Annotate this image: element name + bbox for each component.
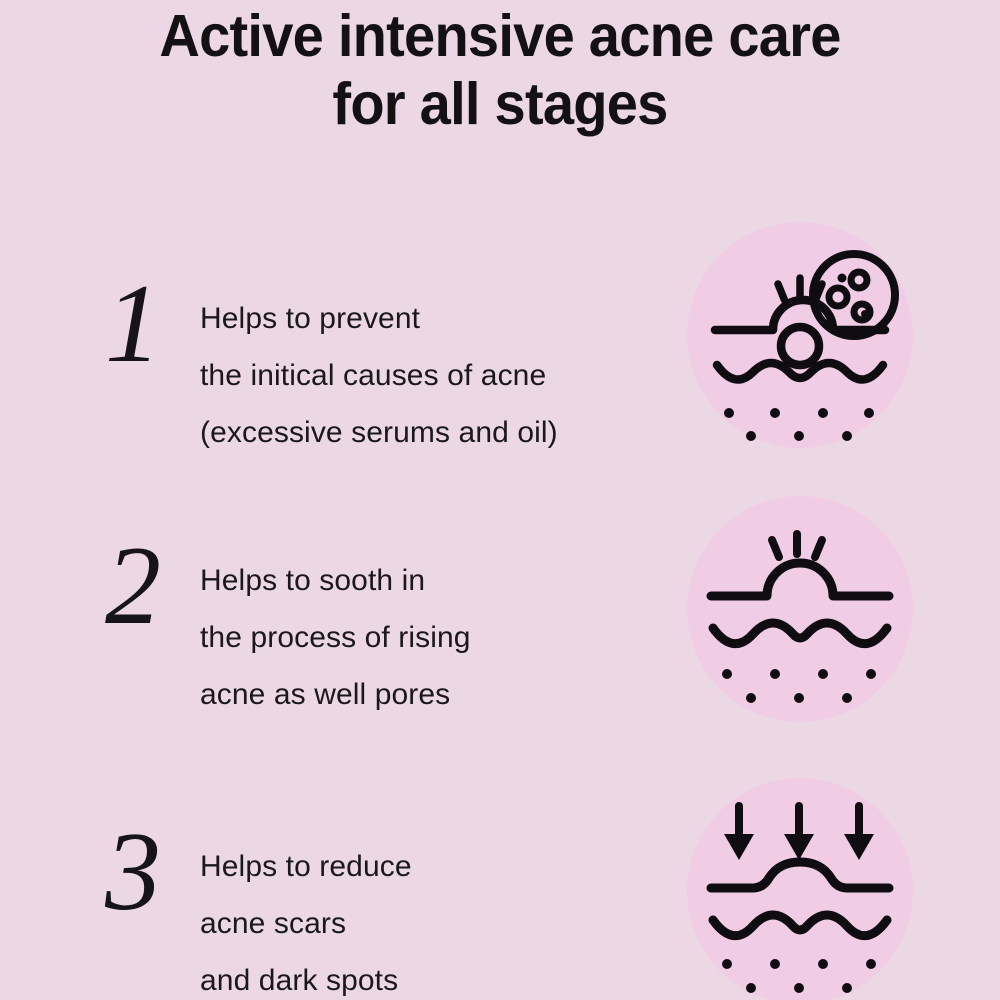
benefit-3-line-1: Helps to reduce <box>200 838 670 895</box>
benefit-2-line-3: acne as well pores <box>200 666 670 723</box>
benefit-3-line-2: acne scars <box>200 895 670 952</box>
benefit-row-2: 2 Helps to sooth in the process of risin… <box>0 482 1000 722</box>
skin-rising-pimple-icon <box>687 496 913 722</box>
benefit-row-3: 3 Helps to reduce acne scars and dark sp… <box>0 768 1000 1000</box>
benefit-text-2: Helps to sooth in the process of rising … <box>200 552 670 723</box>
benefit-row-1: 1 Helps to prevent the initical causes o… <box>0 220 1000 460</box>
benefit-number-1: 1 <box>88 268 178 380</box>
skin-scar-down-arrows-icon <box>687 778 913 1000</box>
pore-dots <box>724 408 874 441</box>
infographic-poster: Active intensive acne care for all stage… <box>0 0 1000 1000</box>
benefit-text-3: Helps to reduce acne scars and dark spot… <box>200 838 670 1000</box>
benefit-number-2: 2 <box>88 530 178 642</box>
benefit-2-line-2: the process of rising <box>200 609 670 666</box>
benefit-1-line-2: the initical causes of acne <box>200 347 670 404</box>
benefit-1-line-3: (excessive serums and oil) <box>200 404 670 461</box>
benefit-number-3: 3 <box>88 816 178 928</box>
title-line-2: for all stages <box>25 70 975 138</box>
benefit-3-line-3: and dark spots <box>200 952 670 1000</box>
page-title: Active intensive acne care for all stage… <box>0 2 1000 138</box>
benefit-text-1: Helps to prevent the initical causes of … <box>200 290 670 461</box>
title-line-1: Active intensive acne care <box>25 2 975 70</box>
skin-pore-bacteria-icon <box>687 222 913 448</box>
benefit-2-line-1: Helps to sooth in <box>200 552 670 609</box>
benefit-1-line-1: Helps to prevent <box>200 290 670 347</box>
